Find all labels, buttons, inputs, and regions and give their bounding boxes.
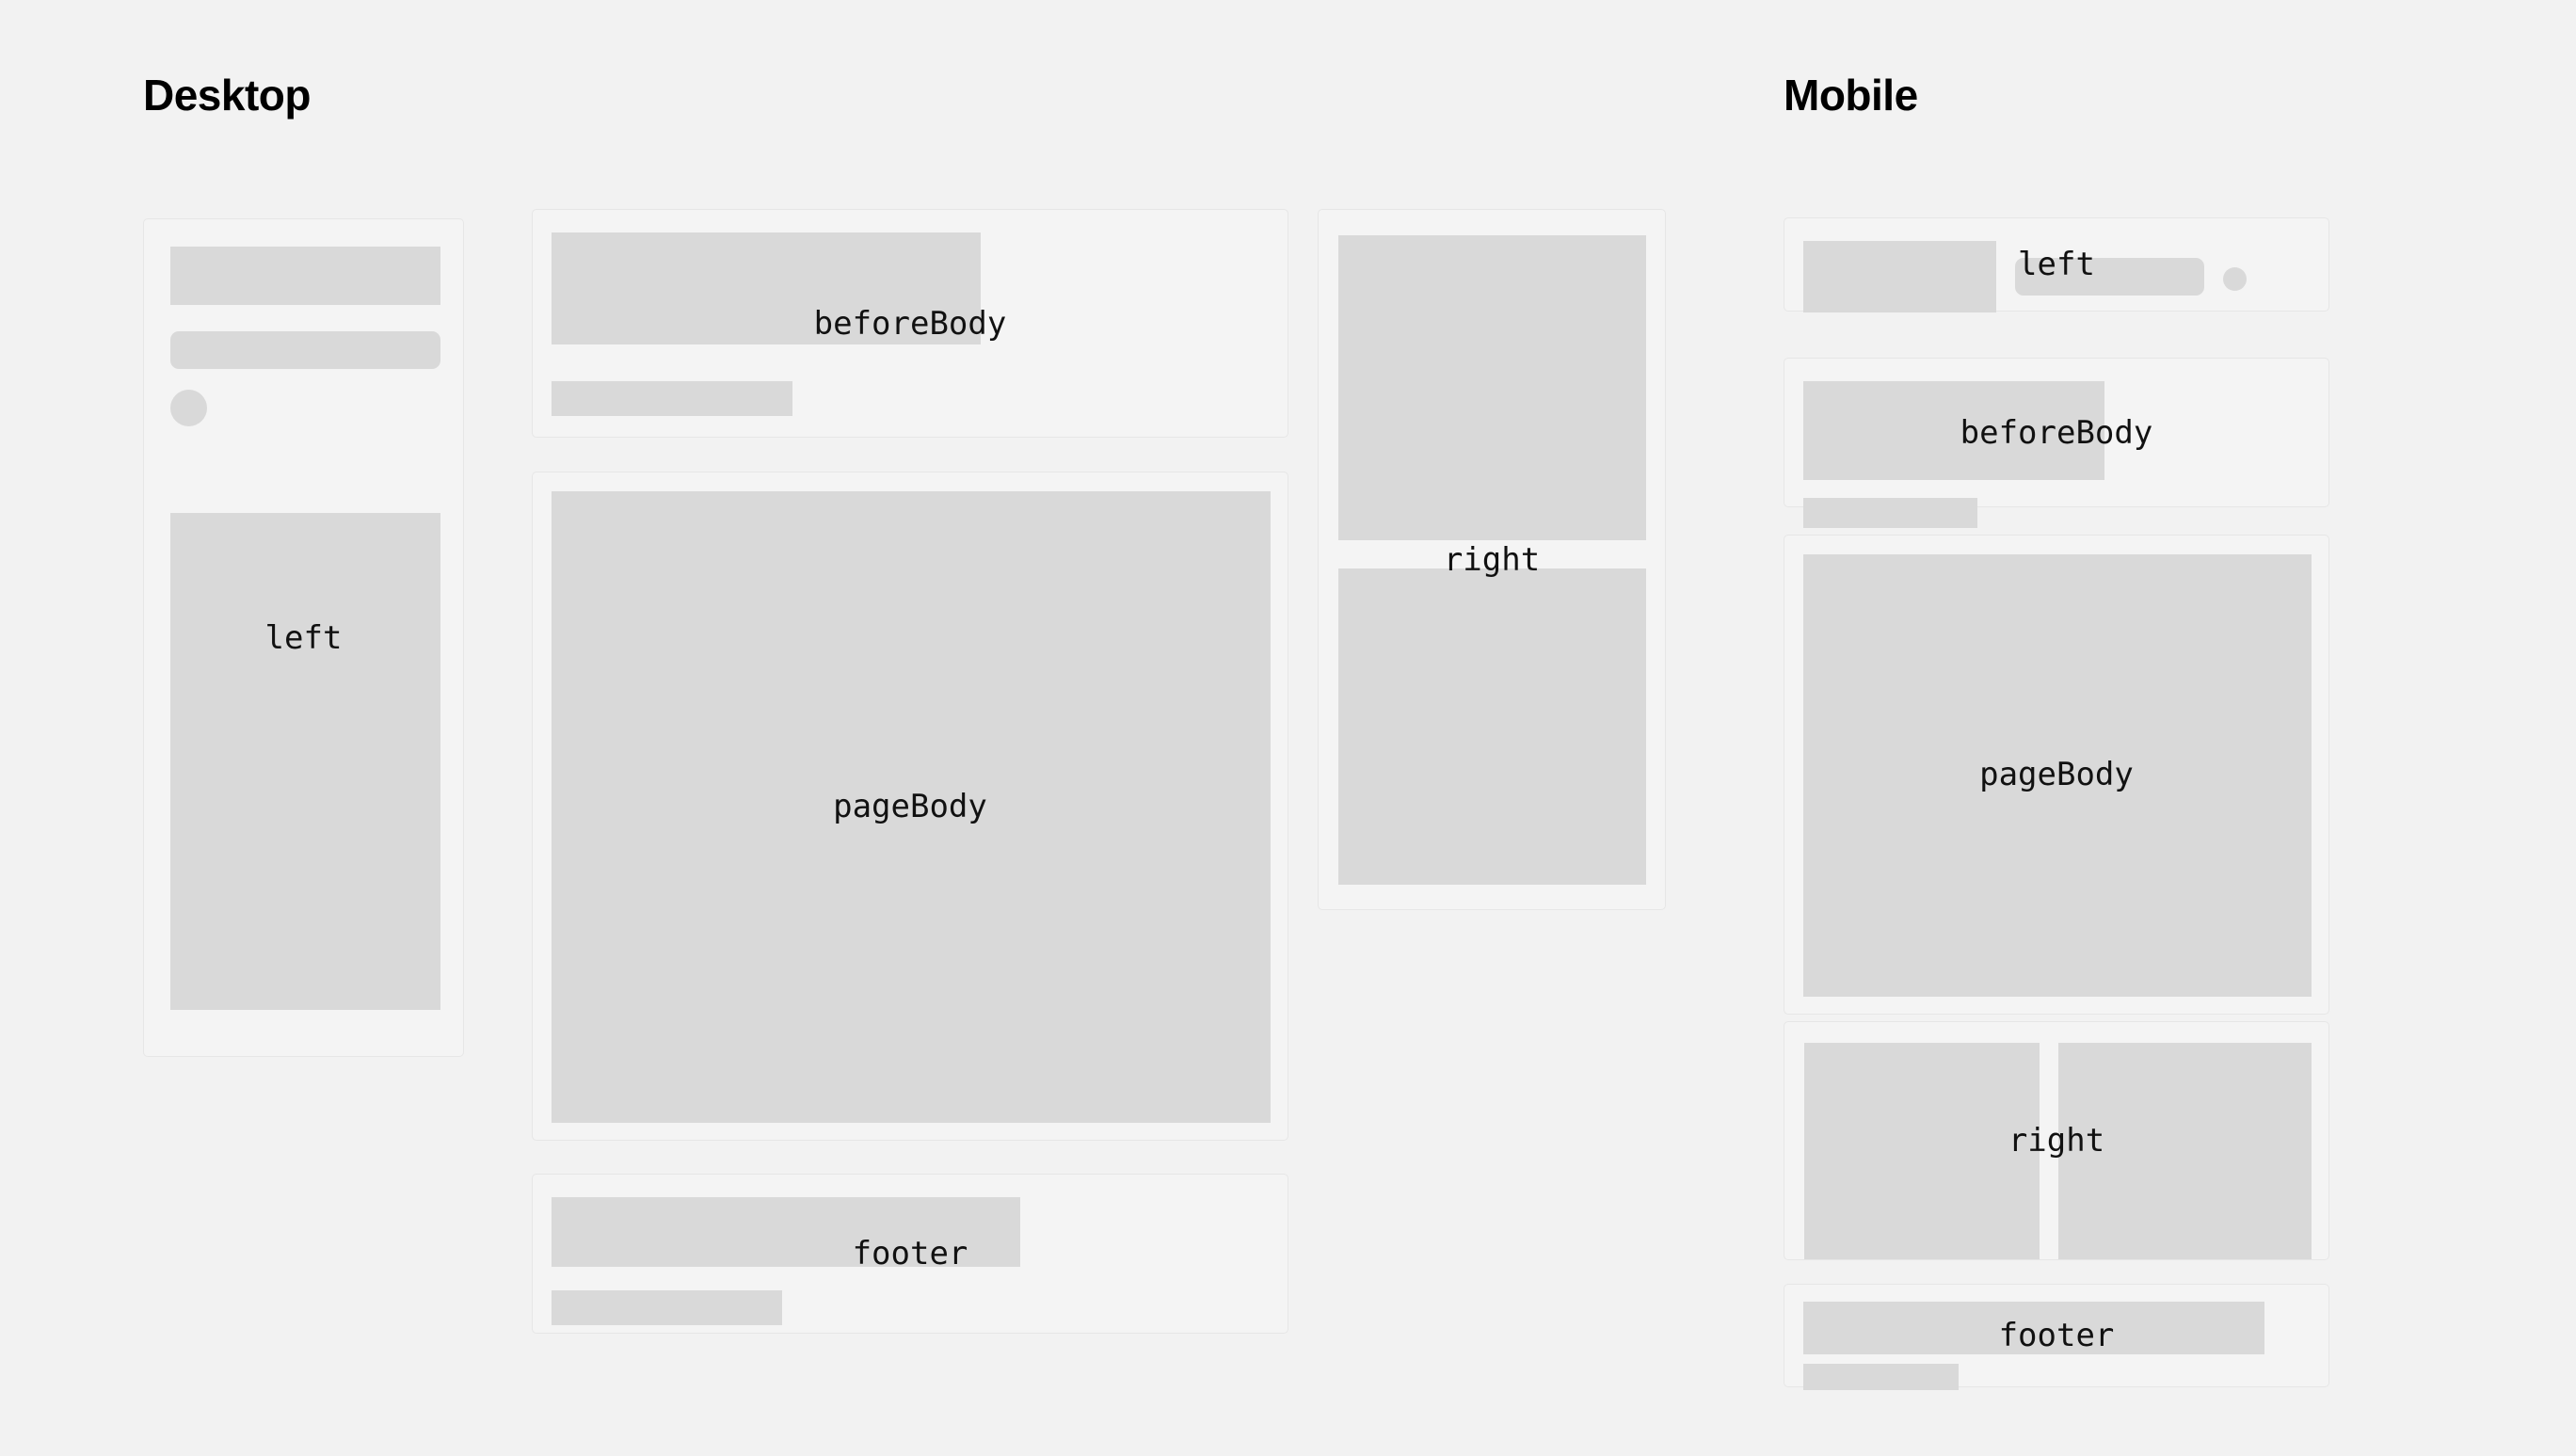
desktop-heading: Desktop <box>143 73 311 117</box>
mobile-beforebody-subtitle-block <box>1803 498 1977 528</box>
mobile-right-widget-left-block <box>1804 1043 2040 1259</box>
desktop-left-avatar-banner-block <box>170 247 440 305</box>
mobile-region-left[interactable]: left <box>1784 217 2329 312</box>
desktop-region-right[interactable]: right <box>1318 209 1666 910</box>
desktop-right-widget-bottom-block <box>1338 568 1646 885</box>
desktop-footer-bar-block <box>552 1197 1020 1267</box>
desktop-region-footer[interactable]: footer <box>532 1174 1288 1334</box>
desktop-left-dot-block <box>170 390 207 426</box>
desktop-beforebody-hero-block <box>552 232 981 344</box>
mobile-left-avatar-banner-block <box>1803 241 1996 312</box>
mobile-region-beforebody[interactable]: beforeBody <box>1784 358 2329 507</box>
mobile-region-footer[interactable]: footer <box>1784 1284 2329 1387</box>
desktop-beforebody-subtitle-block <box>552 381 792 416</box>
mobile-region-right[interactable]: right <box>1784 1021 2329 1260</box>
desktop-region-beforebody[interactable]: beforeBody <box>532 209 1288 438</box>
mobile-left-nav-pill-block <box>2015 258 2204 296</box>
desktop-left-sidebar-body-block <box>170 513 440 1010</box>
mobile-left-dot-block <box>2223 267 2247 291</box>
mobile-footer-note-block <box>1803 1364 1959 1390</box>
mobile-heading: Mobile <box>1784 73 1918 117</box>
desktop-footer-note-block <box>552 1290 782 1325</box>
mobile-pagebody-content-block <box>1803 554 2312 997</box>
desktop-region-left[interactable]: left <box>143 218 464 1057</box>
mobile-right-widget-right-block <box>2058 1043 2312 1259</box>
mobile-footer-bar-block <box>1803 1302 2264 1354</box>
mobile-region-pagebody[interactable]: pageBody <box>1784 535 2329 1015</box>
desktop-right-widget-top-block <box>1338 235 1646 540</box>
desktop-left-nav-pill-block <box>170 331 440 369</box>
desktop-pagebody-content-block <box>552 491 1271 1123</box>
desktop-region-pagebody[interactable]: pageBody <box>532 472 1288 1141</box>
mobile-beforebody-hero-block <box>1803 381 2104 480</box>
layout-comparison-stage: Desktop left beforeBody pageBody footer … <box>0 0 2576 1456</box>
